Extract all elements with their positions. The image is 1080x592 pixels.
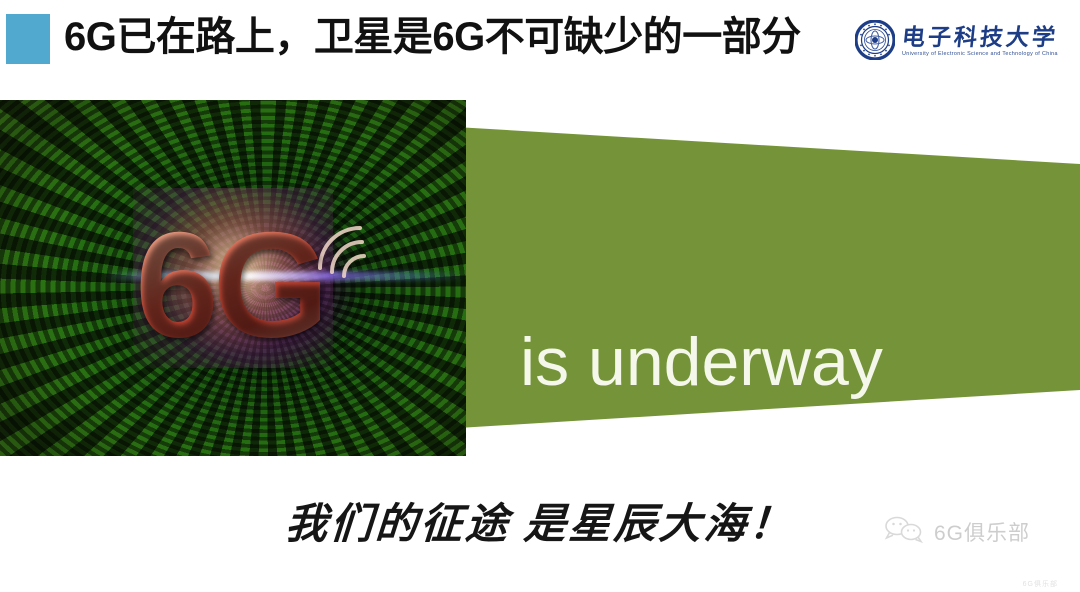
university-name-cn: 电子科技大学 — [901, 26, 1059, 49]
slide-canvas: 6G已在路上，卫星是6G不可缺少的一部分 — [0, 0, 1080, 592]
banner-caption: is underway — [520, 328, 883, 396]
title-accent-square — [6, 14, 50, 64]
6g-logo-text: 6G — [135, 199, 323, 372]
club-watermark: 6G俱乐部 — [884, 514, 1030, 549]
club-watermark-label: 6G俱乐部 — [934, 517, 1030, 547]
6g-binary-tunnel-image: 6G — [0, 100, 466, 456]
uestc-seal-icon — [855, 20, 895, 65]
page-title: 6G已在路上，卫星是6G不可缺少的一部分 — [64, 7, 801, 67]
wechat-bubbles-icon — [884, 514, 926, 549]
university-name-en: University of Electronic Science and Tec… — [902, 52, 1058, 57]
bottom-faint-watermark: 6G俱乐部 — [1023, 579, 1058, 589]
university-logo: 电子科技大学 University of Electronic Science … — [855, 16, 1058, 68]
university-logo-text: 电子科技大学 University of Electronic Science … — [902, 26, 1058, 57]
slide-header: 6G已在路上，卫星是6G不可缺少的一部分 — [0, 0, 1080, 92]
